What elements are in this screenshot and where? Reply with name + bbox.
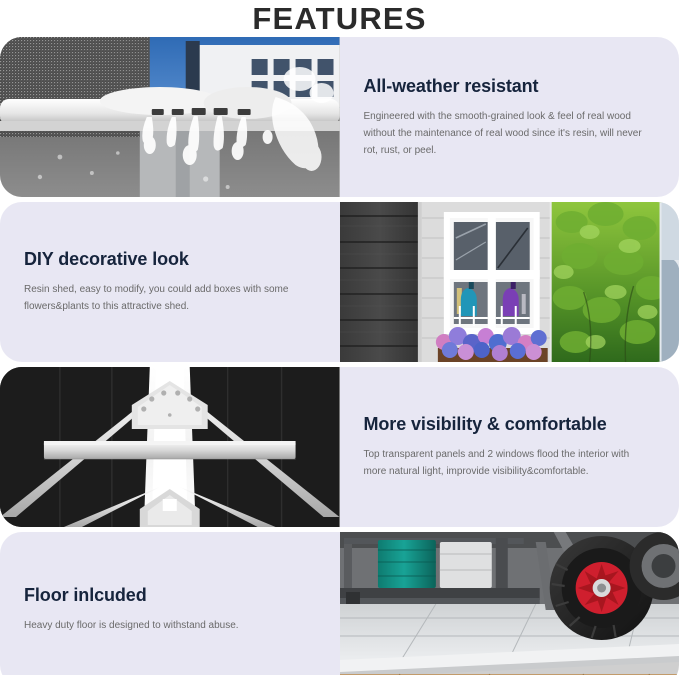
feature-description: Resin shed, easy to modify, you could ad… (24, 281, 306, 315)
roof-truss-illustration (0, 367, 340, 527)
features-page: FEATURES (0, 0, 679, 675)
feature-row: More visibility & comfortable Top transp… (0, 367, 679, 527)
feature-row: Floor inlcuded Heavy duty floor is desig… (0, 532, 679, 675)
roof-truss-skylight-photo (0, 367, 340, 527)
feature-text-card: DIY decorative look Resin shed, easy to … (0, 202, 340, 362)
floor-wheelbarrow-illustration (340, 532, 679, 675)
floor-wheelbarrow-photo (340, 532, 679, 675)
shed-window-flowers-photo (340, 202, 679, 362)
feature-title: DIY decorative look (24, 249, 316, 270)
feature-title: All-weather resistant (364, 76, 656, 97)
gutter-rain-illustration (0, 37, 340, 197)
features-grid: All-weather resistant Engineered with th… (0, 37, 679, 675)
feature-text-card: Floor inlcuded Heavy duty floor is desig… (0, 532, 340, 675)
feature-text-card: All-weather resistant Engineered with th… (340, 37, 679, 197)
feature-title: Floor inlcuded (24, 585, 316, 606)
feature-row: DIY decorative look Resin shed, easy to … (0, 202, 679, 362)
page-title: FEATURES (0, 0, 679, 37)
feature-title: More visibility & comfortable (364, 414, 656, 435)
feature-description: Engineered with the smooth-grained look … (364, 108, 646, 159)
shed-window-illustration (340, 202, 679, 362)
feature-description: Heavy duty floor is designed to withstan… (24, 617, 306, 634)
feature-row: All-weather resistant Engineered with th… (0, 37, 679, 197)
feature-description: Top transparent panels and 2 windows flo… (364, 446, 646, 480)
feature-text-card: More visibility & comfortable Top transp… (340, 367, 679, 527)
gutter-rain-photo (0, 37, 340, 197)
